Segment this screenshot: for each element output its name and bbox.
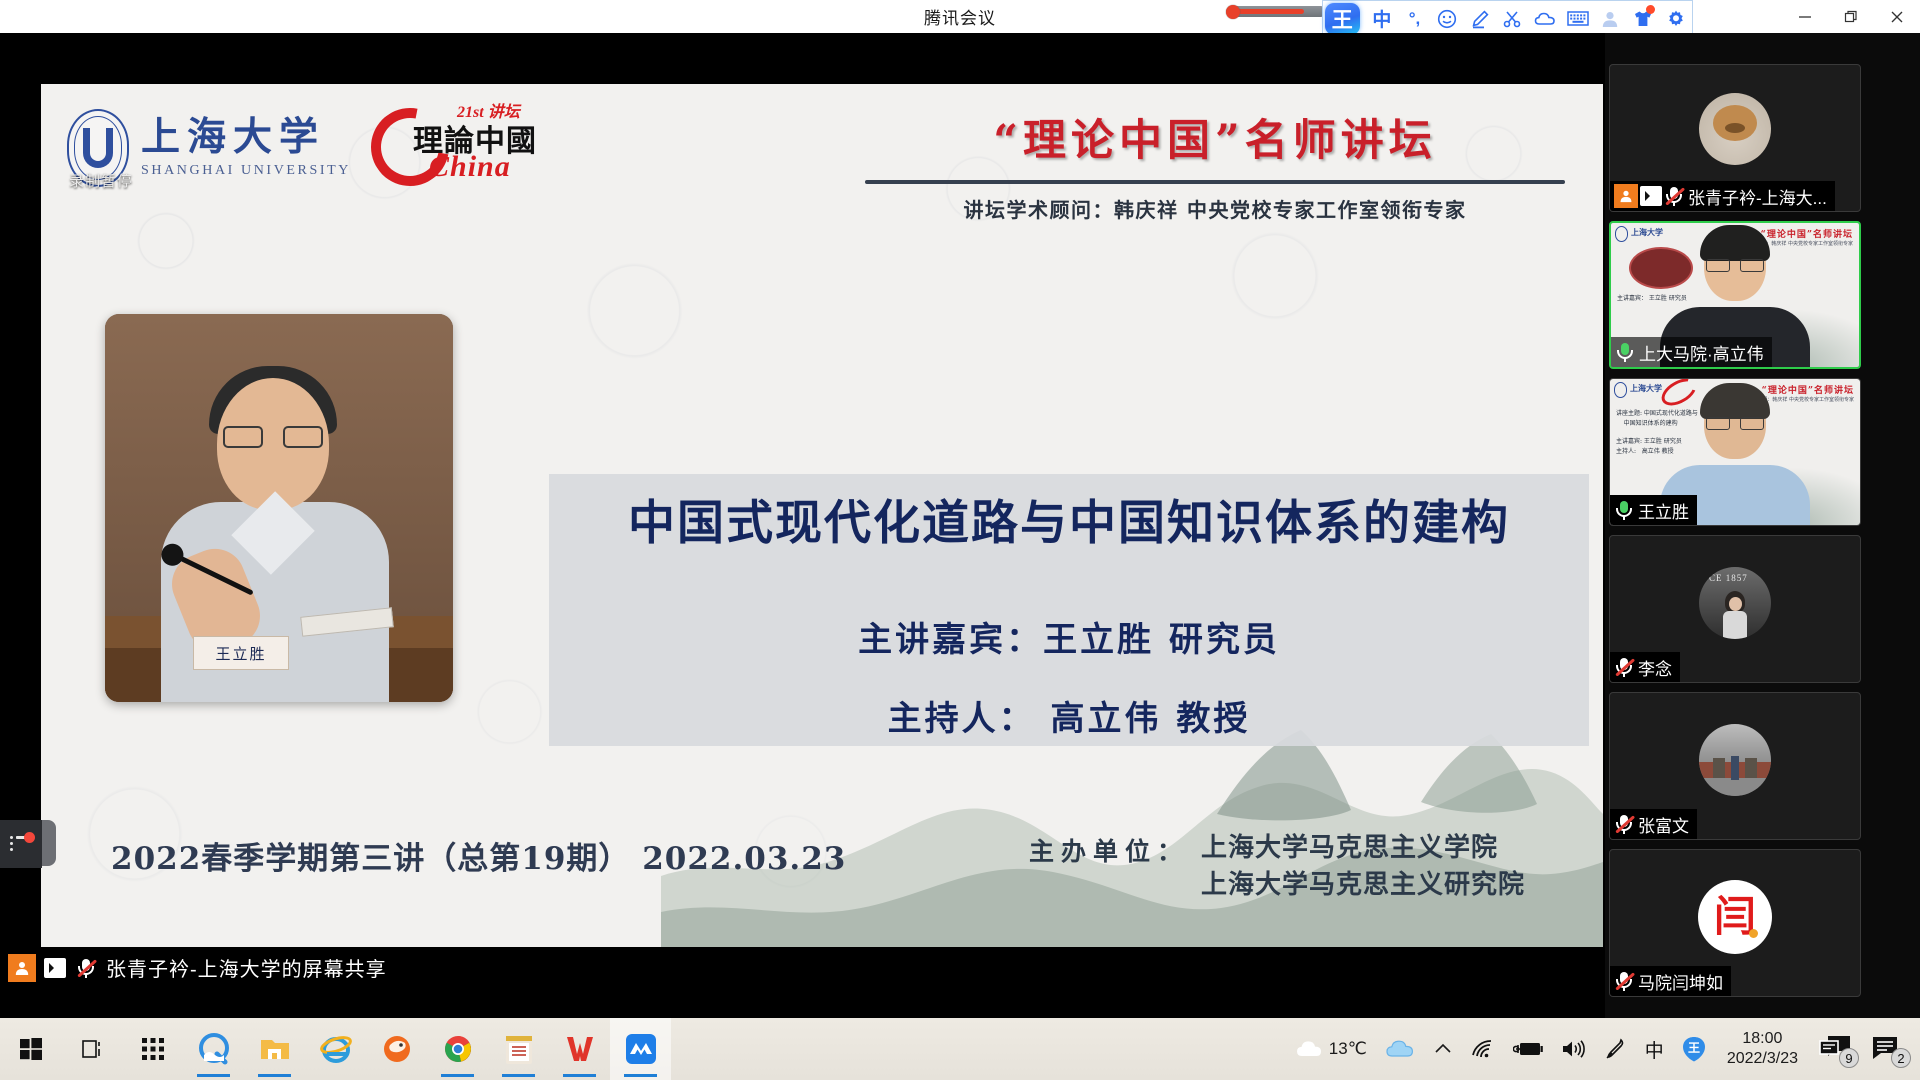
weather-temperature: 13℃ — [1329, 1039, 1367, 1059]
volume-slider-track[interactable] — [1226, 6, 1326, 17]
speaker-portrait-photo: 王立胜 — [105, 314, 453, 702]
volume-speaker-icon[interactable] — [1552, 1018, 1596, 1080]
slide-header-right: “理论中国”名师讲坛 讲坛学术顾问：韩庆祥 中央党校专家工作室领衔专家 — [865, 106, 1565, 223]
clock-time: 18:00 — [1727, 1029, 1798, 1049]
screen-share-owner-label: 张青子衿-上海大学的屏幕共享 — [106, 953, 387, 982]
presentation-slide: 上海大学 SHANGHAI UNIVERSITY 21st 讲坛 理論中國 Ch… — [41, 84, 1603, 956]
university-name-en: SHANGHAI UNIVERSITY — [141, 163, 351, 179]
volume-slider-knob[interactable] — [1226, 5, 1240, 19]
university-names: 上海大学 SHANGHAI UNIVERSITY — [141, 118, 351, 179]
window-controls[interactable] — [1782, 0, 1920, 33]
all-apps-button[interactable] — [122, 1018, 183, 1080]
participant-tile-zhangfuwen[interactable]: 张富文 — [1609, 692, 1861, 840]
participant-tile-zhangqingzijin[interactable]: 张青子衿-上海大... — [1609, 64, 1861, 212]
tray-pull-tab[interactable] — [42, 820, 56, 866]
header-divider — [865, 180, 1565, 184]
internet-explorer-icon[interactable] — [305, 1018, 366, 1080]
recording-status-label: 录制暂停 — [69, 170, 133, 191]
avatar — [1699, 724, 1771, 796]
scissors-screenshot-icon[interactable] — [1496, 2, 1529, 36]
participant-name: 王立胜 — [1638, 498, 1689, 523]
clock-date: 2022/3/23 — [1727, 1049, 1798, 1069]
slide-session-info: 2022春季学期第三讲（总第19期） 2022.03.23 — [111, 833, 846, 878]
screen-share-icon — [1640, 186, 1662, 206]
skin-theme-notification-dot — [1646, 5, 1655, 14]
app-title-bar[interactable]: 腾讯会议 王 中 °, — [0, 0, 1920, 33]
participant-nameplate: 王立胜 — [1610, 495, 1697, 525]
participant-nameplate: 上大马院·高立伟 — [1611, 337, 1772, 367]
participants-tray-collapsed[interactable] — [0, 820, 42, 868]
action-center-notification[interactable]: 2 — [1862, 1018, 1914, 1080]
sogou-ime-toolbar[interactable]: 王 中 °, — [1322, 0, 1693, 37]
organizer-line-1: 上海大学马克思主义学院 — [1201, 830, 1525, 867]
soft-keyboard-icon[interactable] — [1561, 2, 1594, 36]
mic-muted-icon — [1614, 970, 1634, 992]
sogou-ime-logo-icon[interactable]: 王 — [1325, 3, 1360, 35]
maximize-restore-button[interactable] — [1828, 0, 1874, 33]
host-badge-icon — [1614, 184, 1638, 208]
participant-tile-wanglisheng[interactable]: 上海大学 “理论中国”名师讲坛 讲坛学术顾问：韩庆祥 中央党校专家工作室领衔专家… — [1609, 378, 1861, 526]
language-mode-icon[interactable]: 中 — [1366, 2, 1399, 36]
participant-name: 马院闫坤如 — [1638, 969, 1723, 994]
emoji-icon[interactable] — [1431, 2, 1464, 36]
shared-screen-content[interactable]: 上海大学 SHANGHAI UNIVERSITY 21st 讲坛 理論中國 Ch… — [41, 54, 1603, 984]
participant-tile-gaoliwei[interactable]: 上海大学 “理论中国”名师讲坛 讲坛学术顾问：韩庆祥 中央党校专家工作室领衔专家… — [1609, 221, 1861, 369]
user-account-icon[interactable] — [1594, 2, 1627, 36]
app-title: 腾讯会议 — [924, 4, 996, 29]
participant-nameplate: 马院闫坤如 — [1610, 966, 1731, 996]
notes-icon[interactable] — [488, 1018, 549, 1080]
volume-slider[interactable] — [1226, 4, 1326, 18]
mic-active-icon — [1615, 341, 1635, 363]
theory-china-name-en: China — [429, 150, 511, 184]
onedrive-cloud-icon[interactable] — [1376, 1018, 1424, 1080]
slide-host-line: 主持人： 高立伟 教授 — [561, 691, 1577, 740]
slide-main-title: 中国式现代化道路与中国知识体系的建构 — [561, 496, 1577, 552]
mic-muted-icon — [76, 957, 96, 979]
participant-nameplate: 张青子衿-上海大... — [1610, 181, 1835, 211]
chrome-icon[interactable] — [427, 1018, 488, 1080]
mic-muted-icon — [1614, 656, 1634, 678]
task-view-button[interactable] — [61, 1018, 122, 1080]
mic-muted-icon — [1614, 813, 1634, 835]
tray-notification-dot — [24, 832, 35, 843]
ime-chinese-mode-icon[interactable]: 中 — [1636, 1018, 1673, 1080]
mic-muted-icon — [1664, 185, 1684, 207]
participant-name: 张青子衿-上海大... — [1688, 184, 1827, 209]
qq-browser-icon[interactable] — [183, 1018, 244, 1080]
screen-share-status-bar[interactable]: 张青子衿-上海大学的屏幕共享 — [0, 947, 1605, 988]
chat-notification-1[interactable]: 9 — [1810, 1018, 1862, 1080]
svg-text:王: 王 — [1688, 1041, 1700, 1055]
sogou-ime-tray-icon[interactable]: 王 — [1673, 1018, 1715, 1080]
avatar: 闫 — [1698, 880, 1772, 954]
participant-video-strip[interactable]: 张青子衿-上海大... 上海大学 “理论中国”名师讲坛 讲坛学术顾问：韩庆祥 中… — [1605, 33, 1920, 1018]
participant-name: 上大马院·高立伟 — [1639, 340, 1764, 365]
university-name-cn: 上海大学 — [141, 118, 351, 157]
avatar — [1699, 93, 1771, 165]
organizer-line-2: 上海大学马克思主义研究院 — [1201, 867, 1525, 904]
show-hidden-icons-chevron[interactable] — [1424, 1018, 1462, 1080]
close-button[interactable] — [1874, 0, 1920, 33]
cloud-sync-icon[interactable] — [1529, 2, 1562, 36]
slide-organizer: 主办单位： 上海大学马克思主义学院 上海大学马克思主义研究院 — [1029, 830, 1525, 904]
notification-count: 2 — [1891, 1048, 1911, 1068]
participant-tile-mayuanyankunru[interactable]: 闫 马院闫坤如 — [1609, 849, 1861, 997]
participant-nameplate: 李念 — [1610, 652, 1680, 682]
portrait-nameplate: 王立胜 — [193, 636, 289, 670]
host-badge-icon — [8, 954, 36, 982]
handwriting-pen-icon[interactable] — [1463, 2, 1496, 36]
slide-speaker-line: 主讲嘉宾：王立胜 研究员 — [561, 612, 1577, 661]
wps-office-icon[interactable] — [549, 1018, 610, 1080]
tencent-meeting-icon[interactable] — [610, 1018, 671, 1080]
skin-theme-icon[interactable] — [1627, 2, 1660, 36]
notification-count: 9 — [1839, 1048, 1859, 1068]
slide-title-panel: 中国式现代化道路与中国知识体系的建构 主讲嘉宾：王立胜 研究员 主持人： 高立伟… — [549, 474, 1589, 746]
slide-logo-row: 上海大学 SHANGHAI UNIVERSITY 21st 讲坛 理論中國 Ch… — [67, 102, 561, 194]
settings-gear-icon[interactable] — [1659, 2, 1692, 36]
forum-title: “理论中国”名师讲坛 — [865, 106, 1565, 168]
file-explorer-icon[interactable] — [244, 1018, 305, 1080]
battery-charging-icon[interactable] — [1504, 1018, 1552, 1080]
avatar: CE 1857 — [1699, 567, 1771, 639]
volume-slider-fill — [1232, 9, 1304, 14]
minimize-button[interactable] — [1782, 0, 1828, 33]
screen-share-icon — [44, 958, 68, 978]
participant-tile-linian[interactable]: CE 1857 李念 — [1609, 535, 1861, 683]
theory-china-logo: 21st 讲坛 理論中國 China — [371, 102, 561, 194]
participant-nameplate: 张富文 — [1610, 809, 1697, 839]
punctuation-mode-icon[interactable]: °, — [1398, 2, 1431, 36]
taskbar-clock[interactable]: 18:00 2022/3/23 — [1715, 1029, 1810, 1069]
mic-active-icon — [1614, 499, 1634, 521]
windows-taskbar[interactable]: 13℃ 中 王 18:00 2022/3/23 — [0, 1018, 1920, 1080]
participant-name: 李念 — [1638, 655, 1672, 680]
weather-widget[interactable]: 13℃ — [1286, 1018, 1376, 1080]
forum-advisor-line: 讲坛学术顾问：韩庆祥 中央党校专家工作室领衔专家 — [865, 194, 1565, 223]
network-wifi-icon[interactable] — [1462, 1018, 1504, 1080]
organizer-label: 主办单位： — [1029, 830, 1189, 868]
list-icon — [10, 836, 32, 852]
participant-name: 张富文 — [1638, 812, 1689, 837]
meeting-stage[interactable]: 上海大学 SHANGHAI UNIVERSITY 21st 讲坛 理論中國 Ch… — [0, 33, 1605, 1018]
firefox-icon[interactable] — [366, 1018, 427, 1080]
start-button[interactable] — [0, 1018, 61, 1080]
ime-pen-icon[interactable] — [1596, 1018, 1636, 1080]
cloud-icon — [1295, 1038, 1323, 1060]
